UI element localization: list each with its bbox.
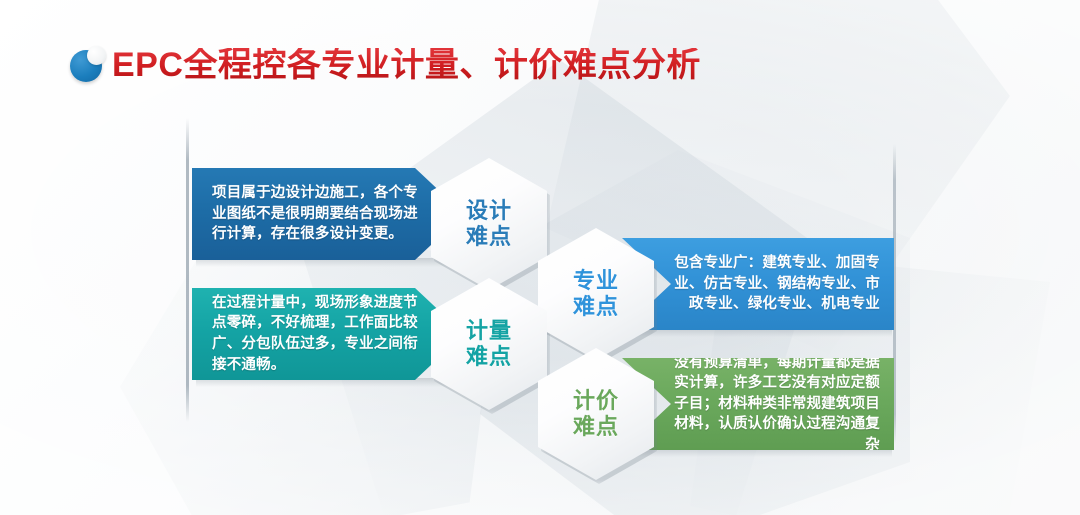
diagram-bar-measurement: 在过程计量中，现场形象进度节点零碎，不好梳理，工作面比较广、分包队伍过多，专业之… <box>192 288 464 380</box>
diagram-bar-specialty: 包含专业广：建筑专业、加固专业、仿古专业、钢结构专业、市政专业、绿化专业、机电专… <box>622 238 894 330</box>
diagram-badge-label-measurement-line1: 计量 <box>466 318 512 343</box>
diagram-bar-text-design: 项目属于边设计边施工，各个专业图纸不是很明朗要结合现场进行计算，存在很多设计变更… <box>212 183 418 245</box>
diagram-bar-text-measurement: 在过程计量中，现场形象进度节点零碎，不好梳理，工作面比较广、分包队伍过多，专业之… <box>212 293 418 375</box>
panel-left-edge <box>186 118 189 422</box>
diagram-bar-pricing: 没有预算清单，每期计量都是据实计算，许多工艺没有对应定额子目；材料种类非常规建筑… <box>622 358 894 450</box>
diagram-badge-label-pricing-line1: 计价 <box>573 388 619 413</box>
diagram-badge-label-design-line1: 设计 <box>466 198 512 223</box>
diagram-panel: 项目属于边设计边施工，各个专业图纸不是很明朗要结合现场进行计算，存在很多设计变更… <box>186 118 898 448</box>
diagram-badge-label-pricing-line2: 难点 <box>573 414 619 440</box>
slide-title-row: EPC全程控各专业计量、计价难点分析 <box>70 40 701 90</box>
diagram-badge-label-design-line2: 难点 <box>466 224 512 250</box>
slide-root: EPC全程控各专业计量、计价难点分析 项目属于边设计边施工，各个专业图纸不是很明… <box>0 0 1080 515</box>
diagram-bar-text-specialty: 包含专业广：建筑专业、加固专业、仿古专业、钢结构专业、市政专业、绿化专业、机电专… <box>666 253 880 315</box>
diagram-badge-label-specialty: 专业 难点 <box>573 268 619 319</box>
diagram-badge-label-measurement: 计量 难点 <box>466 318 512 369</box>
circle-pair-icon-dot <box>87 46 106 65</box>
diagram-badge-label-pricing: 计价 难点 <box>573 388 619 439</box>
diagram-bar-text-pricing: 没有预算清单，每期计量都是据实计算，许多工艺没有对应定额子目；材料种类非常规建筑… <box>666 353 880 456</box>
circle-pair-icon <box>70 46 108 84</box>
diagram-bar-design: 项目属于边设计边施工，各个专业图纸不是很明朗要结合现场进行计算，存在很多设计变更… <box>192 168 464 260</box>
diagram-badge-label-measurement-line2: 难点 <box>466 344 512 370</box>
diagram-badge-label-specialty-line2: 难点 <box>573 294 619 320</box>
page-title: EPC全程控各专业计量、计价难点分析 <box>112 48 701 82</box>
diagram-badge-label-design: 设计 难点 <box>466 198 512 249</box>
diagram-badge-label-specialty-line1: 专业 <box>573 268 619 293</box>
